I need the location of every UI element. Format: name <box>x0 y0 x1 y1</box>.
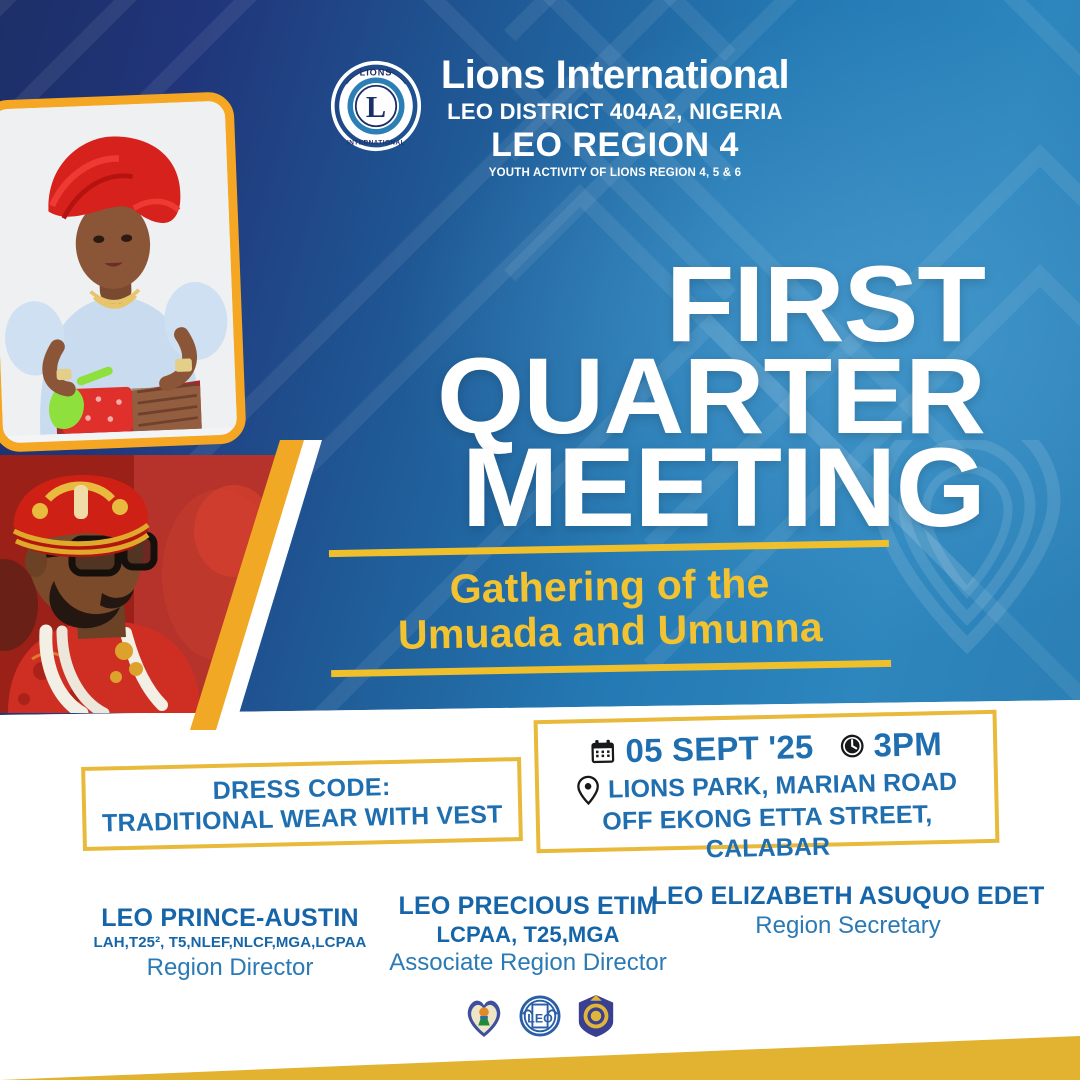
lions-district-emblem-icon <box>575 993 617 1039</box>
svg-text:LIONS: LIONS <box>360 68 393 78</box>
calendar-icon <box>589 737 617 766</box>
main-title: FIRST QUARTER MEETING <box>205 258 985 534</box>
dress-code-label: DRESS CODE: <box>212 771 391 805</box>
subtitle-text: Gathering of the Umuada and Umunna <box>329 547 891 661</box>
officer-name: LEO ELIZABETH ASUQUO EDET <box>648 882 1048 911</box>
woman-traditional-attire-photo <box>0 91 247 452</box>
officer-role: Region Director <box>70 953 390 982</box>
event-info-box: 05 SEPT '25 3PM LIONS PARK, MARIAN ROAD … <box>534 710 1000 853</box>
officer-role: Region Secretary <box>648 911 1048 940</box>
officers-list: LEO PRINCE-AUSTIN LAH,T25², T5,NLEF,NLCF… <box>0 890 1080 990</box>
officer-entry: LEO PRECIOUS ETIM LCPAA, T25,MGA Associa… <box>368 892 688 977</box>
subtitle-line-2: Umuada and Umunna <box>330 604 891 659</box>
org-name: Lions International <box>430 52 800 98</box>
dress-code-value: TRADITIONAL WEAR WITH VEST <box>102 799 503 839</box>
officer-name: LEO PRECIOUS ETIM <box>368 892 688 921</box>
clock-icon <box>839 733 866 760</box>
subtitle-block: Gathering of the Umuada and Umunna <box>329 540 891 677</box>
event-flyer: L LIONS INTERNATIONAL Lions Internationa… <box>0 0 1080 1080</box>
woman-photo-illustration <box>0 101 237 437</box>
lions-international-seal-icon: L LIONS INTERNATIONAL <box>330 60 422 152</box>
leo-club-emblem-icon: LEO <box>519 993 561 1039</box>
footer-logos: LEO <box>455 992 625 1040</box>
svg-text:L: L <box>366 90 386 124</box>
youth-note: YOUTH ACTIVITY OF LIONS REGION 4, 5 & 6 <box>430 164 800 182</box>
region-name: LEO REGION 4 <box>430 126 800 164</box>
venue-line-2: OFF EKONG ETTA STREET, CALABAR <box>554 798 982 868</box>
officer-entry: LEO ELIZABETH ASUQUO EDET Region Secreta… <box>648 882 1048 940</box>
district-name: LEO DISTRICT 404A2, NIGERIA <box>430 98 800 126</box>
dress-code-box: DRESS CODE: TRADITIONAL WEAR WITH VEST <box>81 757 523 851</box>
officer-credentials: LAH,T25², T5,NLEF,NLCF,MGA,LCPAA <box>70 933 390 953</box>
leo-heart-emblem-icon <box>463 993 505 1039</box>
event-time: 3PM <box>873 725 942 765</box>
officer-role: Associate Region Director <box>368 948 688 977</box>
officer-name: LEO PRINCE-AUSTIN <box>70 904 390 933</box>
event-date: 05 SEPT '25 <box>625 728 814 770</box>
officer-credentials: LCPAA, T25,MGA <box>368 921 688 948</box>
officer-entry: LEO PRINCE-AUSTIN LAH,T25², T5,NLEF,NLCF… <box>70 904 390 982</box>
location-pin-icon <box>576 775 601 806</box>
svg-text:INTERNATIONAL: INTERNATIONAL <box>347 140 405 147</box>
header-block: L LIONS INTERNATIONAL Lions Internationa… <box>330 52 800 212</box>
